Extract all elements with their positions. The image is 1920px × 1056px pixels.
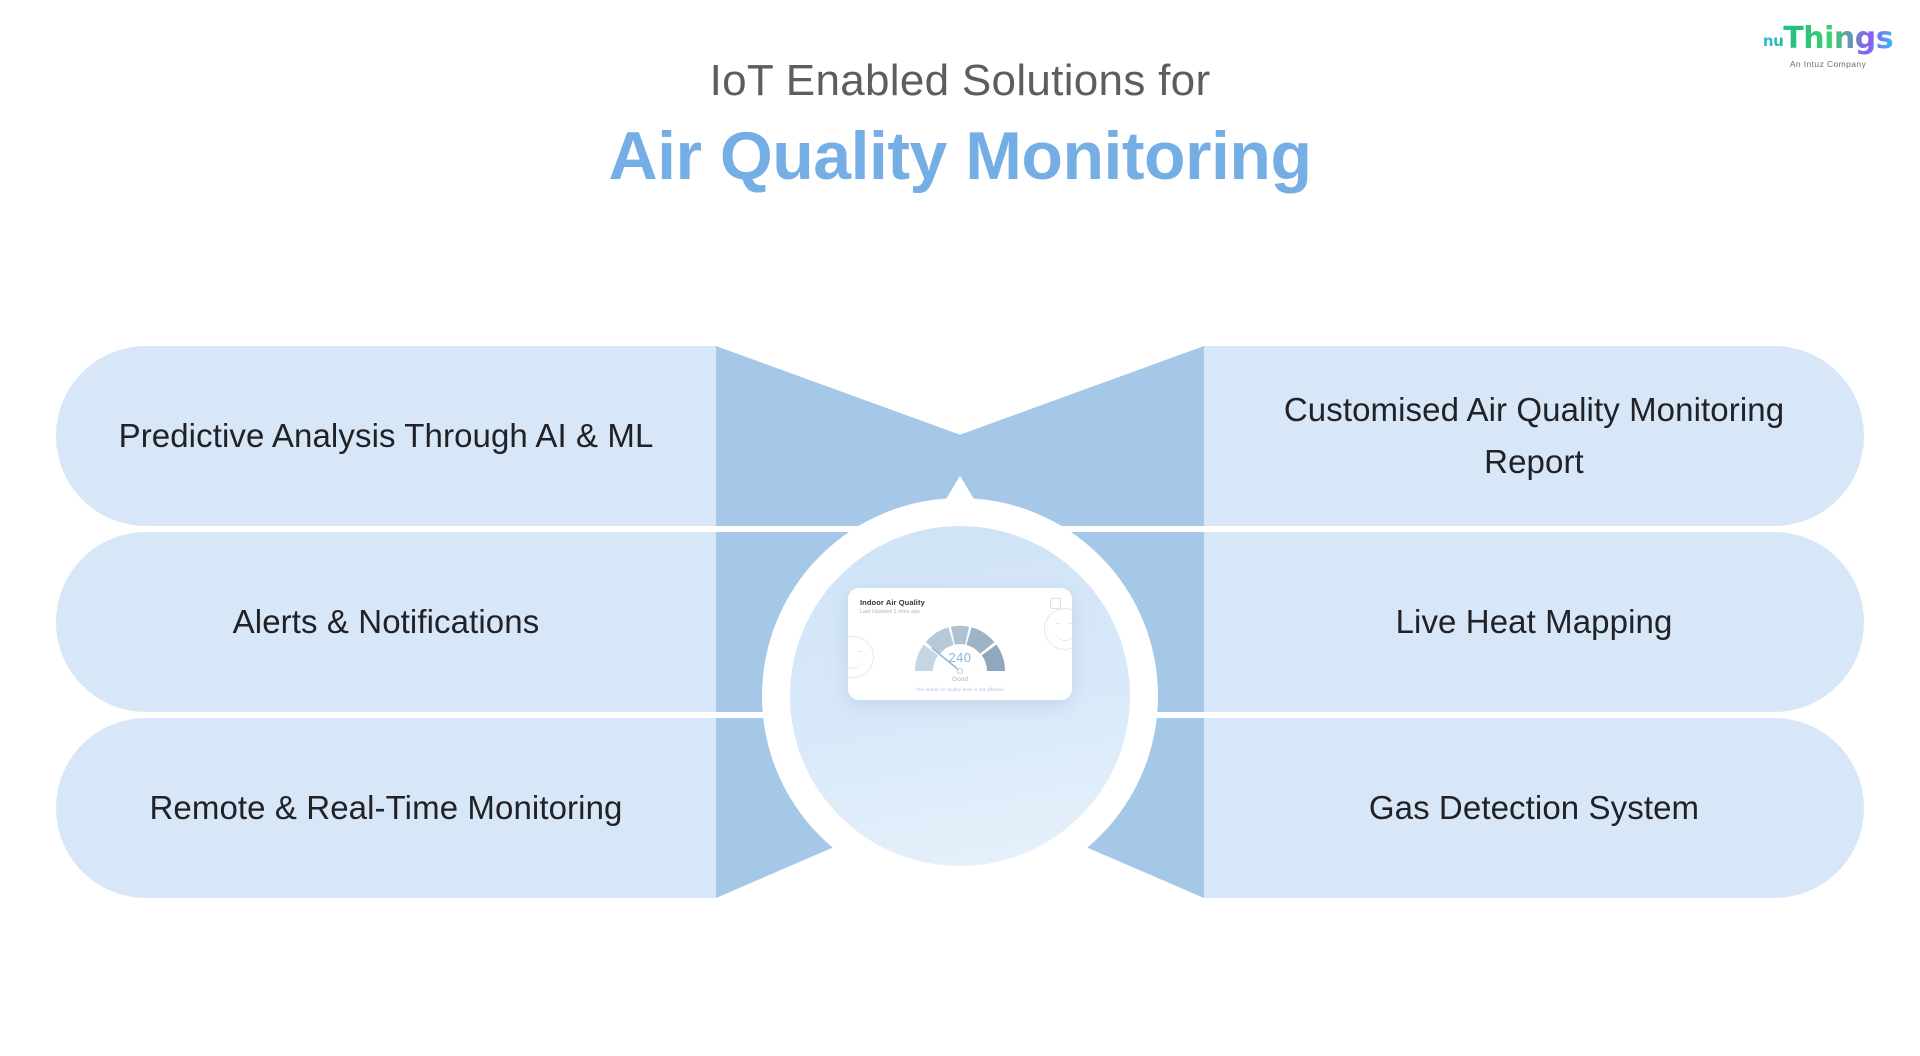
feature-left-3[interactable]: Remote & Real-Time Monitoring bbox=[56, 718, 716, 898]
feature-label: Gas Detection System bbox=[1369, 782, 1699, 834]
air-quality-card[interactable]: Indoor Air Quality Last Updated 2 mins a… bbox=[848, 588, 1072, 700]
heading-eyebrow: IoT Enabled Solutions for bbox=[0, 52, 1920, 110]
feature-label: Live Heat Mapping bbox=[1396, 596, 1673, 648]
feature-label: Customised Air Quality Monitoring Report bbox=[1238, 384, 1830, 488]
logo-name: Things bbox=[1783, 21, 1893, 56]
air-quality-value: 240 bbox=[848, 650, 1072, 665]
gauge-hub bbox=[957, 668, 962, 673]
page-heading: IoT Enabled Solutions for Air Quality Mo… bbox=[0, 52, 1920, 200]
brand-logo: nuThings An Intuz Company bbox=[1758, 22, 1898, 84]
logo-prefix: nu bbox=[1763, 32, 1783, 50]
logo-wordmark: nuThings bbox=[1758, 22, 1898, 58]
smiley-face-icon bbox=[1044, 608, 1072, 650]
gauge-segment-3 bbox=[951, 626, 969, 645]
more-options-icon[interactable] bbox=[1050, 598, 1061, 609]
air-quality-gauge bbox=[907, 621, 1013, 675]
feature-right-3[interactable]: Gas Detection System bbox=[1204, 718, 1864, 898]
feature-label: Remote & Real-Time Monitoring bbox=[149, 782, 622, 834]
feature-right-2[interactable]: Live Heat Mapping bbox=[1204, 532, 1864, 712]
air-quality-note: The indoor air quality level is not affe… bbox=[848, 687, 1072, 692]
feature-left-2[interactable]: Alerts & Notifications bbox=[56, 532, 716, 712]
feature-label: Predictive Analysis Through AI & ML bbox=[119, 410, 654, 462]
card-title: Indoor Air Quality bbox=[860, 598, 925, 607]
feature-left-1[interactable]: Predictive Analysis Through AI & ML bbox=[56, 346, 716, 526]
card-subtitle: Last Updated 2 mins ago bbox=[860, 609, 920, 615]
feature-right-1[interactable]: Customised Air Quality Monitoring Report bbox=[1204, 346, 1864, 526]
air-quality-status: Good bbox=[848, 676, 1072, 683]
features-diagram: Predictive Analysis Through AI & ML Aler… bbox=[0, 330, 1920, 990]
logo-tagline: An Intuz Company bbox=[1758, 59, 1898, 69]
page-title: Air Quality Monitoring bbox=[0, 112, 1920, 200]
feature-label: Alerts & Notifications bbox=[233, 596, 540, 648]
